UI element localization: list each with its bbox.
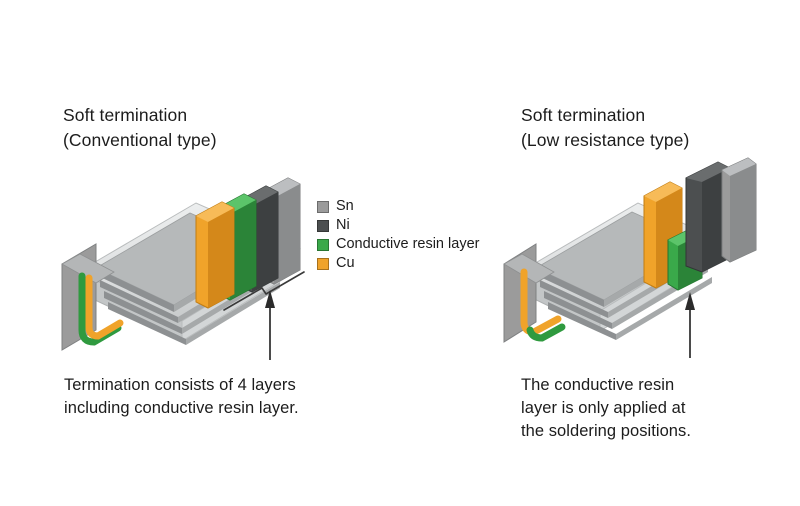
annotation-bracket-and-arrow — [224, 272, 304, 360]
panel-low-resistance-type: Soft termination (Low resistance type) — [400, 0, 800, 506]
termination-layer-sn — [722, 158, 756, 262]
termination-layer-ni — [686, 162, 730, 272]
legend-swatch-conductive-resin — [317, 239, 329, 251]
caption-line-2: layer is only applied at — [521, 397, 691, 420]
ceramic-body-front-face — [520, 272, 600, 331]
resin-layer-left-end-solder-position — [530, 327, 562, 338]
annotation-arrow-head — [265, 290, 275, 308]
termination-layer-resin — [218, 194, 256, 300]
panel-title-low-resistance: Soft termination (Low resistance type) — [521, 103, 689, 153]
caption-line-1: Termination consists of 4 layers — [64, 374, 299, 397]
title-line-2: (Conventional type) — [63, 128, 217, 153]
ceramic-body-side-face — [182, 249, 300, 341]
legend-swatch-cu — [317, 258, 329, 270]
cu-layer-left-end — [89, 278, 120, 336]
panel-caption-low-resistance: The conductive resin layer is only appli… — [521, 374, 691, 443]
legend-swatch-ni — [317, 220, 329, 232]
legend-label-ni: Ni — [336, 218, 350, 233]
resin-layer-left-end — [82, 276, 118, 342]
ceramic-body-top-face — [520, 203, 718, 311]
annotation-arrow-head — [685, 292, 695, 310]
termination-layer-cu — [196, 202, 234, 308]
annotation-arrow — [685, 292, 695, 358]
termination-layer-ni — [240, 186, 278, 292]
internal-electrode-stack — [96, 213, 280, 345]
caption-line-1: The conductive resin — [521, 374, 691, 397]
panel-caption-conventional: Termination consists of 4 layers includi… — [64, 374, 299, 420]
left-end-termination-wrap — [62, 244, 120, 350]
internal-electrode-stack — [536, 212, 712, 340]
panel-conventional-type: Soft termination (Conventional type) — [0, 0, 400, 506]
ceramic-body-front-face — [78, 272, 182, 341]
legend-swatch-sn — [317, 201, 329, 213]
ceramic-body-side-face — [600, 239, 718, 331]
legend-label-sn: Sn — [336, 199, 354, 214]
legend-label-cu: Cu — [336, 256, 355, 271]
title-line-1: Soft termination — [63, 103, 217, 128]
caption-line-3: the soldering positions. — [521, 420, 691, 443]
caption-line-2: including conductive resin layer. — [64, 397, 299, 420]
cu-layer-left-end — [524, 272, 558, 332]
termination-layer-cu — [644, 182, 682, 288]
title-line-2: (Low resistance type) — [521, 128, 689, 153]
ceramic-body-top-face — [78, 203, 300, 321]
panel-title-conventional: Soft termination (Conventional type) — [63, 103, 217, 153]
termination-layer-sn — [262, 178, 300, 284]
title-line-1: Soft termination — [521, 103, 689, 128]
termination-layers-bracket — [224, 272, 304, 310]
left-end-termination-wrap — [504, 244, 562, 342]
termination-layer-resin-partial — [668, 228, 702, 290]
